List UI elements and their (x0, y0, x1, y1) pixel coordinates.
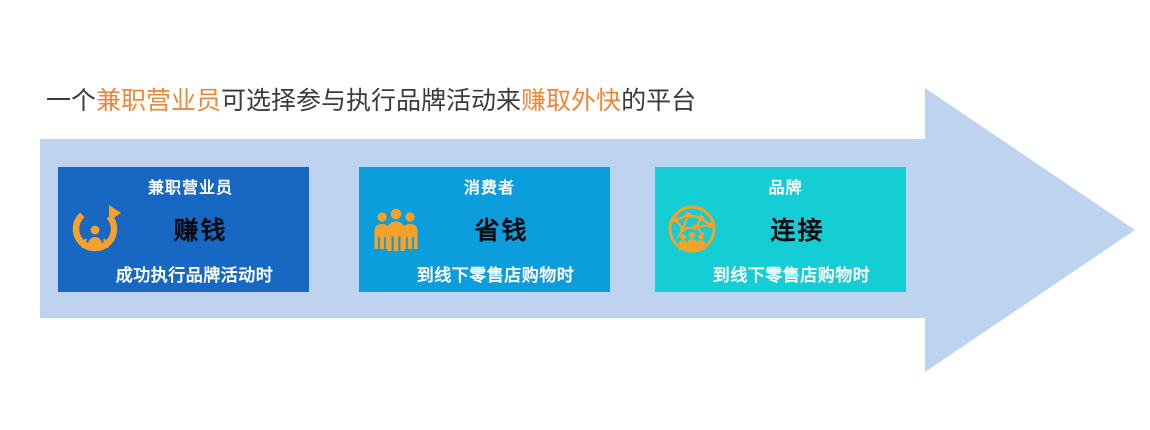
card-brand[interactable]: 品牌 (655, 167, 906, 292)
card-consumer[interactable]: 消费者 省钱 到线下零售店购物时 (359, 167, 610, 292)
card-footer-label: 到线下零售店购物时 (359, 261, 610, 286)
title-segment-0: 一个 (46, 88, 96, 115)
card-part-time-clerk[interactable]: 兼职营业员 赚钱 成功执行品牌活动时 (58, 167, 309, 292)
title-segment-3-highlight: 赚取外快 (521, 88, 621, 115)
title-segment-1-highlight: 兼职营业员 (96, 88, 221, 115)
page-title: 一个兼职营业员可选择参与执行品牌活动来赚取外快的平台 (46, 85, 696, 119)
card-value-label: 连接 (655, 211, 906, 247)
card-footer-label: 成功执行品牌活动时 (58, 261, 309, 286)
card-value-label: 赚钱 (58, 211, 309, 247)
card-header-label: 品牌 (655, 174, 906, 198)
card-row: 兼职营业员 赚钱 成功执行品牌活动时 消费者 (58, 167, 908, 292)
diagram-canvas: 一个兼职营业员可选择参与执行品牌活动来赚取外快的平台 兼职营业员 赚钱 成功执行… (0, 0, 1150, 430)
card-header-label: 兼职营业员 (58, 174, 309, 198)
card-header-label: 消费者 (359, 174, 610, 198)
title-segment-4: 的平台 (621, 88, 696, 115)
title-segment-2: 可选择参与执行品牌活动来 (221, 88, 521, 115)
card-footer-label: 到线下零售店购物时 (655, 261, 906, 286)
card-value-label: 省钱 (359, 211, 610, 247)
